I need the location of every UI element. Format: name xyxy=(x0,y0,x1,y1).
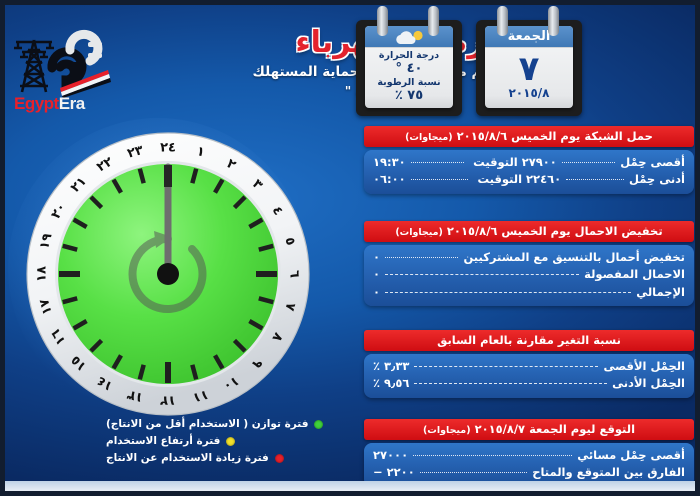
row-value: ٢٧٩٠٠ xyxy=(522,154,557,171)
panel-body: الحِمْل الأقصى ٣٫٣٣ ٪ الحِمْل الأدنى ٩٫٥… xyxy=(364,354,694,398)
legend-color-swatch-red xyxy=(275,454,284,463)
table-row: الحِمْل الأقصى ٣٫٣٣ ٪ xyxy=(373,358,685,375)
table-row: الاحمال المفصولة ٠ xyxy=(373,266,685,283)
panel-yoy-change: نسبة التغير مقارنة بالعام السابق الحِمْل… xyxy=(364,330,694,398)
leader-dots xyxy=(385,292,631,293)
panel-body: أقصى حِمْل ٢٧٩٠٠ التوقيت ١٩:٣٠ أدنى حِمْ… xyxy=(364,150,694,194)
leader-dots xyxy=(411,162,464,163)
table-row: تخفيض أحمال بالتنسيق مع المشتركيين ٠ xyxy=(373,249,685,266)
binder-ring-right xyxy=(548,6,559,36)
row-label-secondary: التوقيت xyxy=(473,154,518,171)
logo-word-egypt: Egypt xyxy=(14,94,59,113)
panel-unit: (ميجاوات) xyxy=(423,425,471,436)
legend: فترة توازن ( الاستخدام أقل من الانتاج) ف… xyxy=(106,416,352,467)
row-label: الحِمْل الأقصى xyxy=(603,358,685,375)
svg-text:٦: ٦ xyxy=(287,270,302,278)
legend-color-swatch-yellow xyxy=(226,437,235,446)
row-label: أقصى حِمْل مسائي xyxy=(577,447,685,464)
year-month: ٢٠١٥/٨ xyxy=(489,86,569,100)
row-value: ٠ xyxy=(373,249,380,266)
bottom-strip xyxy=(5,481,695,491)
panel-load-reduction: تخفيض الاحمال يوم الخميس ٢٠١٥/٨/٦ (ميجاو… xyxy=(364,221,694,306)
infographic-canvas: EgyptEra مرصد الكهرباء جهاز تنظيم مرفق ا… xyxy=(0,0,700,496)
binder-ring-right xyxy=(428,6,439,36)
leader-dots xyxy=(385,274,579,275)
date-card-content: ٧ ٢٠١٥/٨ xyxy=(485,48,573,100)
row-label: أقصى حِمْل xyxy=(620,154,685,171)
leader-dots xyxy=(413,455,572,456)
row-label: الحِمْل الأدنى xyxy=(612,375,685,392)
leader-dots xyxy=(411,179,469,180)
legend-label: فترة زيادة الاستخدام عن الانتاج xyxy=(106,450,269,467)
leader-dots xyxy=(414,366,598,367)
humidity-value: ٧٥ ٪ xyxy=(369,89,449,104)
legend-label: فترة أرتفاع الاستخدام xyxy=(106,433,220,450)
panel-network-load: حمل الشبكة يوم الخميس ٢٠١٥/٨/٦ (ميجاوات)… xyxy=(364,126,694,194)
panel-body: تخفيض أحمال بالتنسيق مع المشتركيين ٠ الا… xyxy=(364,245,694,306)
panel-body: أقصى حِمْل مسائي ٢٧٠٠٠ الفارق بين المتوق… xyxy=(364,443,694,487)
legend-color-swatch-green xyxy=(314,420,323,429)
leader-dots xyxy=(385,257,458,258)
date-card: الجمعة ٧ ٢٠١٥/٨ xyxy=(476,6,582,116)
row-label: تخفيض أحمال بالتنسيق مع المشتركيين xyxy=(463,249,685,266)
panel-title: التوقع ليوم الجمعة ٢٠١٥/٨/٧ (ميجاوات) xyxy=(364,419,694,440)
row-value-secondary: ١٩:٣٠ xyxy=(373,154,406,171)
weather-card-body: درجة الحرارة ٤٠ ° نسبة الرطوبة ٧٥ ٪ xyxy=(365,26,453,108)
temperature-value: ٤٠ ° xyxy=(369,62,449,77)
legend-item-over-usage: فترة زيادة الاستخدام عن الانتاج xyxy=(106,450,352,467)
row-label: الإجمالي xyxy=(636,284,685,301)
leader-dots xyxy=(562,162,615,163)
panel-title: تخفيض الاحمال يوم الخميس ٢٠١٥/٨/٦ (ميجاو… xyxy=(364,221,694,242)
header: EgyptEra مرصد الكهرباء جهاز تنظيم مرفق ا… xyxy=(0,0,700,122)
svg-text:١٨: ١٨ xyxy=(35,266,50,282)
row-value: ٩٫٥٦ ٪ xyxy=(373,375,409,392)
table-row: الحِمْل الأدنى ٩٫٥٦ ٪ xyxy=(373,375,685,392)
power-tower-plug-icon xyxy=(8,22,112,98)
table-row: أقصى حِمْل مسائي ٢٧٠٠٠ xyxy=(373,447,685,464)
weather-card-content: درجة الحرارة ٤٠ ° نسبة الرطوبة ٧٥ ٪ xyxy=(365,48,453,104)
table-row: أدنى حِمْل ٢٢٤٦٠ التوقيت ٠٦:٠٠ xyxy=(373,171,685,188)
panel-title: نسبة التغير مقارنة بالعام السابق xyxy=(364,330,694,351)
row-value: ٢٢٠٠ − xyxy=(373,464,415,481)
binder-ring-left xyxy=(497,6,508,36)
load-status-clock: ١٢٣٤٥٦٧٨٩١٠١١١٢١٣١٤١٥١٦١٧١٨١٩٢٠٢١٢٢٢٣٢٤ xyxy=(25,131,311,417)
svg-text:١٢: ١٢ xyxy=(160,393,176,408)
row-label: الاحمال المفصولة xyxy=(584,266,685,283)
panel-unit: (ميجاوات) xyxy=(405,132,453,143)
table-row: الإجمالي ٠ xyxy=(373,284,685,301)
table-row: أقصى حِمْل ٢٧٩٠٠ التوقيت ١٩:٣٠ xyxy=(373,154,685,171)
leader-dots xyxy=(414,383,607,384)
weather-card: درجة الحرارة ٤٠ ° نسبة الرطوبة ٧٥ ٪ xyxy=(356,6,462,116)
sun-cloud-icon xyxy=(393,29,427,47)
logo-word-era: Era xyxy=(59,94,85,113)
panel-title-text: التوقع ليوم الجمعة ٢٠١٥/٨/٧ xyxy=(475,422,635,436)
legend-label: فترة توازن ( الاستخدام أقل من الانتاج) xyxy=(106,416,308,433)
row-label-secondary: التوقيت xyxy=(477,171,522,188)
row-value: ٣٫٣٣ ٪ xyxy=(373,358,409,375)
leader-dots xyxy=(566,179,624,180)
clock-dial: ١٢٣٤٥٦٧٨٩١٠١١١٢١٣١٤١٥١٦١٧١٨١٩٢٠٢١٢٢٢٣٢٤ xyxy=(25,131,311,417)
panel-title-text: تخفيض الاحمال يوم الخميس ٢٠١٥/٨/٦ xyxy=(447,224,663,238)
humidity-label: نسبة الرطوبة xyxy=(369,77,449,89)
leader-dots xyxy=(420,472,527,473)
row-label: أدنى حِمْل xyxy=(629,171,685,188)
legend-item-high-usage: فترة أرتفاع الاستخدام xyxy=(106,433,352,450)
panel-friday-forecast: التوقع ليوم الجمعة ٢٠١٥/٨/٧ (ميجاوات) أق… xyxy=(364,419,694,487)
row-value: ٠ xyxy=(373,284,380,301)
egyptera-logo: EgyptEra xyxy=(8,22,112,114)
binder-ring-left xyxy=(377,6,388,36)
logo-wordmark: EgyptEra xyxy=(14,94,85,114)
panel-unit: (ميجاوات) xyxy=(395,227,443,238)
day-number: ٧ xyxy=(489,52,569,87)
table-row: الفارق بين المتوقع والمتاح ٢٢٠٠ − xyxy=(373,464,685,481)
row-value: ٢٢٤٦٠ xyxy=(526,171,561,188)
legend-item-balance: فترة توازن ( الاستخدام أقل من الانتاج) xyxy=(106,416,352,433)
row-value: ٠ xyxy=(373,266,380,283)
row-value: ٢٧٠٠٠ xyxy=(373,447,408,464)
panel-title-text: نسبة التغير مقارنة بالعام السابق xyxy=(437,333,621,347)
panel-title: حمل الشبكة يوم الخميس ٢٠١٥/٨/٦ (ميجاوات) xyxy=(364,126,694,147)
svg-text:٢٤: ٢٤ xyxy=(160,141,176,156)
row-label: الفارق بين المتوقع والمتاح xyxy=(532,464,685,481)
panel-title-text: حمل الشبكة يوم الخميس ٢٠١٥/٨/٦ xyxy=(457,129,653,143)
date-card-body: الجمعة ٧ ٢٠١٥/٨ xyxy=(485,26,573,108)
row-value-secondary: ٠٦:٠٠ xyxy=(373,171,406,188)
